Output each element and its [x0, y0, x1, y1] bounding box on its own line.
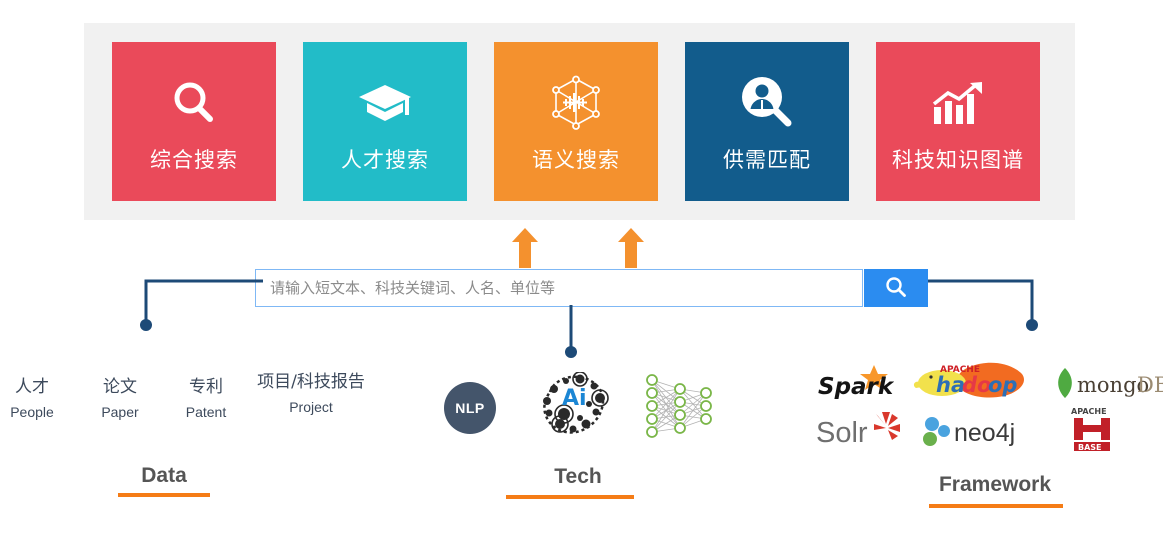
nlp-badge-label: NLP	[455, 400, 485, 416]
group-underline-data	[118, 493, 210, 497]
neural-network-icon[interactable]	[638, 372, 718, 442]
ai-brain-gears-icon[interactable]: Ai	[536, 372, 610, 442]
svg-text:APACHE: APACHE	[1071, 407, 1107, 416]
page-root: 综合搜索 人才搜索	[0, 0, 1163, 537]
svg-text:Solr: Solr	[816, 417, 868, 449]
connector-left	[138, 278, 263, 333]
group-title-tech: Tech	[518, 465, 638, 489]
svg-text:op: op	[988, 373, 1017, 397]
data-item-list: 人才 People 论文 Paper 专利 Patent 项目/科技报告 Pro…	[0, 364, 400, 426]
data-item-label-en: People	[0, 404, 64, 420]
data-item-people[interactable]: 人才 People	[0, 372, 64, 420]
feature-card-list: 综合搜索 人才搜索	[112, 42, 1047, 201]
data-item-patent[interactable]: 专利 Patent	[174, 372, 238, 420]
hadoop-logo[interactable]: APACHE ha do op	[912, 360, 1027, 402]
mongodb-logo[interactable]: mongo DB	[1055, 366, 1163, 400]
feature-card-supply-demand-match[interactable]: 供需匹配	[685, 42, 849, 201]
trend-chart-icon	[930, 70, 986, 136]
hbase-logo[interactable]: APACHE BASE	[1068, 405, 1120, 451]
magnifier-icon	[168, 70, 220, 136]
solr-logo[interactable]: Solr	[816, 410, 906, 450]
search-input[interactable]	[256, 270, 862, 306]
group-underline-framework	[929, 504, 1063, 508]
feature-card-label: 科技知识图谱	[892, 144, 1024, 174]
feature-card-comprehensive-search[interactable]: 综合搜索	[112, 42, 276, 201]
search-button[interactable]	[864, 269, 928, 307]
data-item-label-cn: 项目/科技报告	[244, 367, 378, 392]
nlp-badge-icon[interactable]: NLP	[444, 382, 496, 434]
group-title-framework: Framework	[915, 473, 1075, 497]
connector-middle	[562, 305, 580, 361]
data-item-label-en: Paper	[88, 404, 152, 420]
feature-card-semantic-search[interactable]: 语义搜索	[494, 42, 658, 201]
svg-text:Ai: Ai	[562, 386, 587, 411]
group-title-data: Data	[104, 464, 224, 488]
data-item-label-cn: 论文	[88, 372, 152, 397]
feature-card-label: 语义搜索	[532, 144, 620, 174]
search-icon	[885, 276, 907, 301]
data-item-project[interactable]: 项目/科技报告 Project	[244, 367, 378, 415]
connector-right	[928, 278, 1048, 333]
svg-text:ha: ha	[936, 373, 965, 397]
feature-card-talent-search[interactable]: 人才搜索	[303, 42, 467, 201]
data-item-label-en: Project	[244, 399, 378, 415]
person-search-icon	[738, 70, 796, 136]
svg-text:DB: DB	[1137, 373, 1163, 397]
feature-card-label: 综合搜索	[150, 144, 238, 174]
data-item-label-en: Patent	[174, 404, 238, 420]
data-item-label-cn: 专利	[174, 372, 238, 397]
feature-card-label: 人才搜索	[341, 144, 429, 174]
graduation-cap-icon	[357, 70, 413, 136]
spark-logo[interactable]: Spark	[818, 365, 894, 401]
knowledge-graph-icon	[548, 70, 604, 136]
svg-text:neo4j: neo4j	[954, 419, 1015, 447]
feature-card-knowledge-graph[interactable]: 科技知识图谱	[876, 42, 1040, 201]
arrow-up-icon	[618, 228, 644, 268]
feature-card-label: 供需匹配	[723, 144, 811, 174]
search-input-wrapper[interactable]	[255, 269, 863, 307]
svg-text:BASE: BASE	[1078, 443, 1102, 451]
arrow-up-icon	[512, 228, 538, 268]
group-underline-tech	[506, 495, 634, 499]
data-item-label-cn: 人才	[0, 372, 64, 397]
svg-text:Spark: Spark	[818, 374, 894, 400]
data-item-paper[interactable]: 论文 Paper	[88, 372, 152, 420]
neo4j-logo[interactable]: neo4j	[920, 414, 1032, 448]
